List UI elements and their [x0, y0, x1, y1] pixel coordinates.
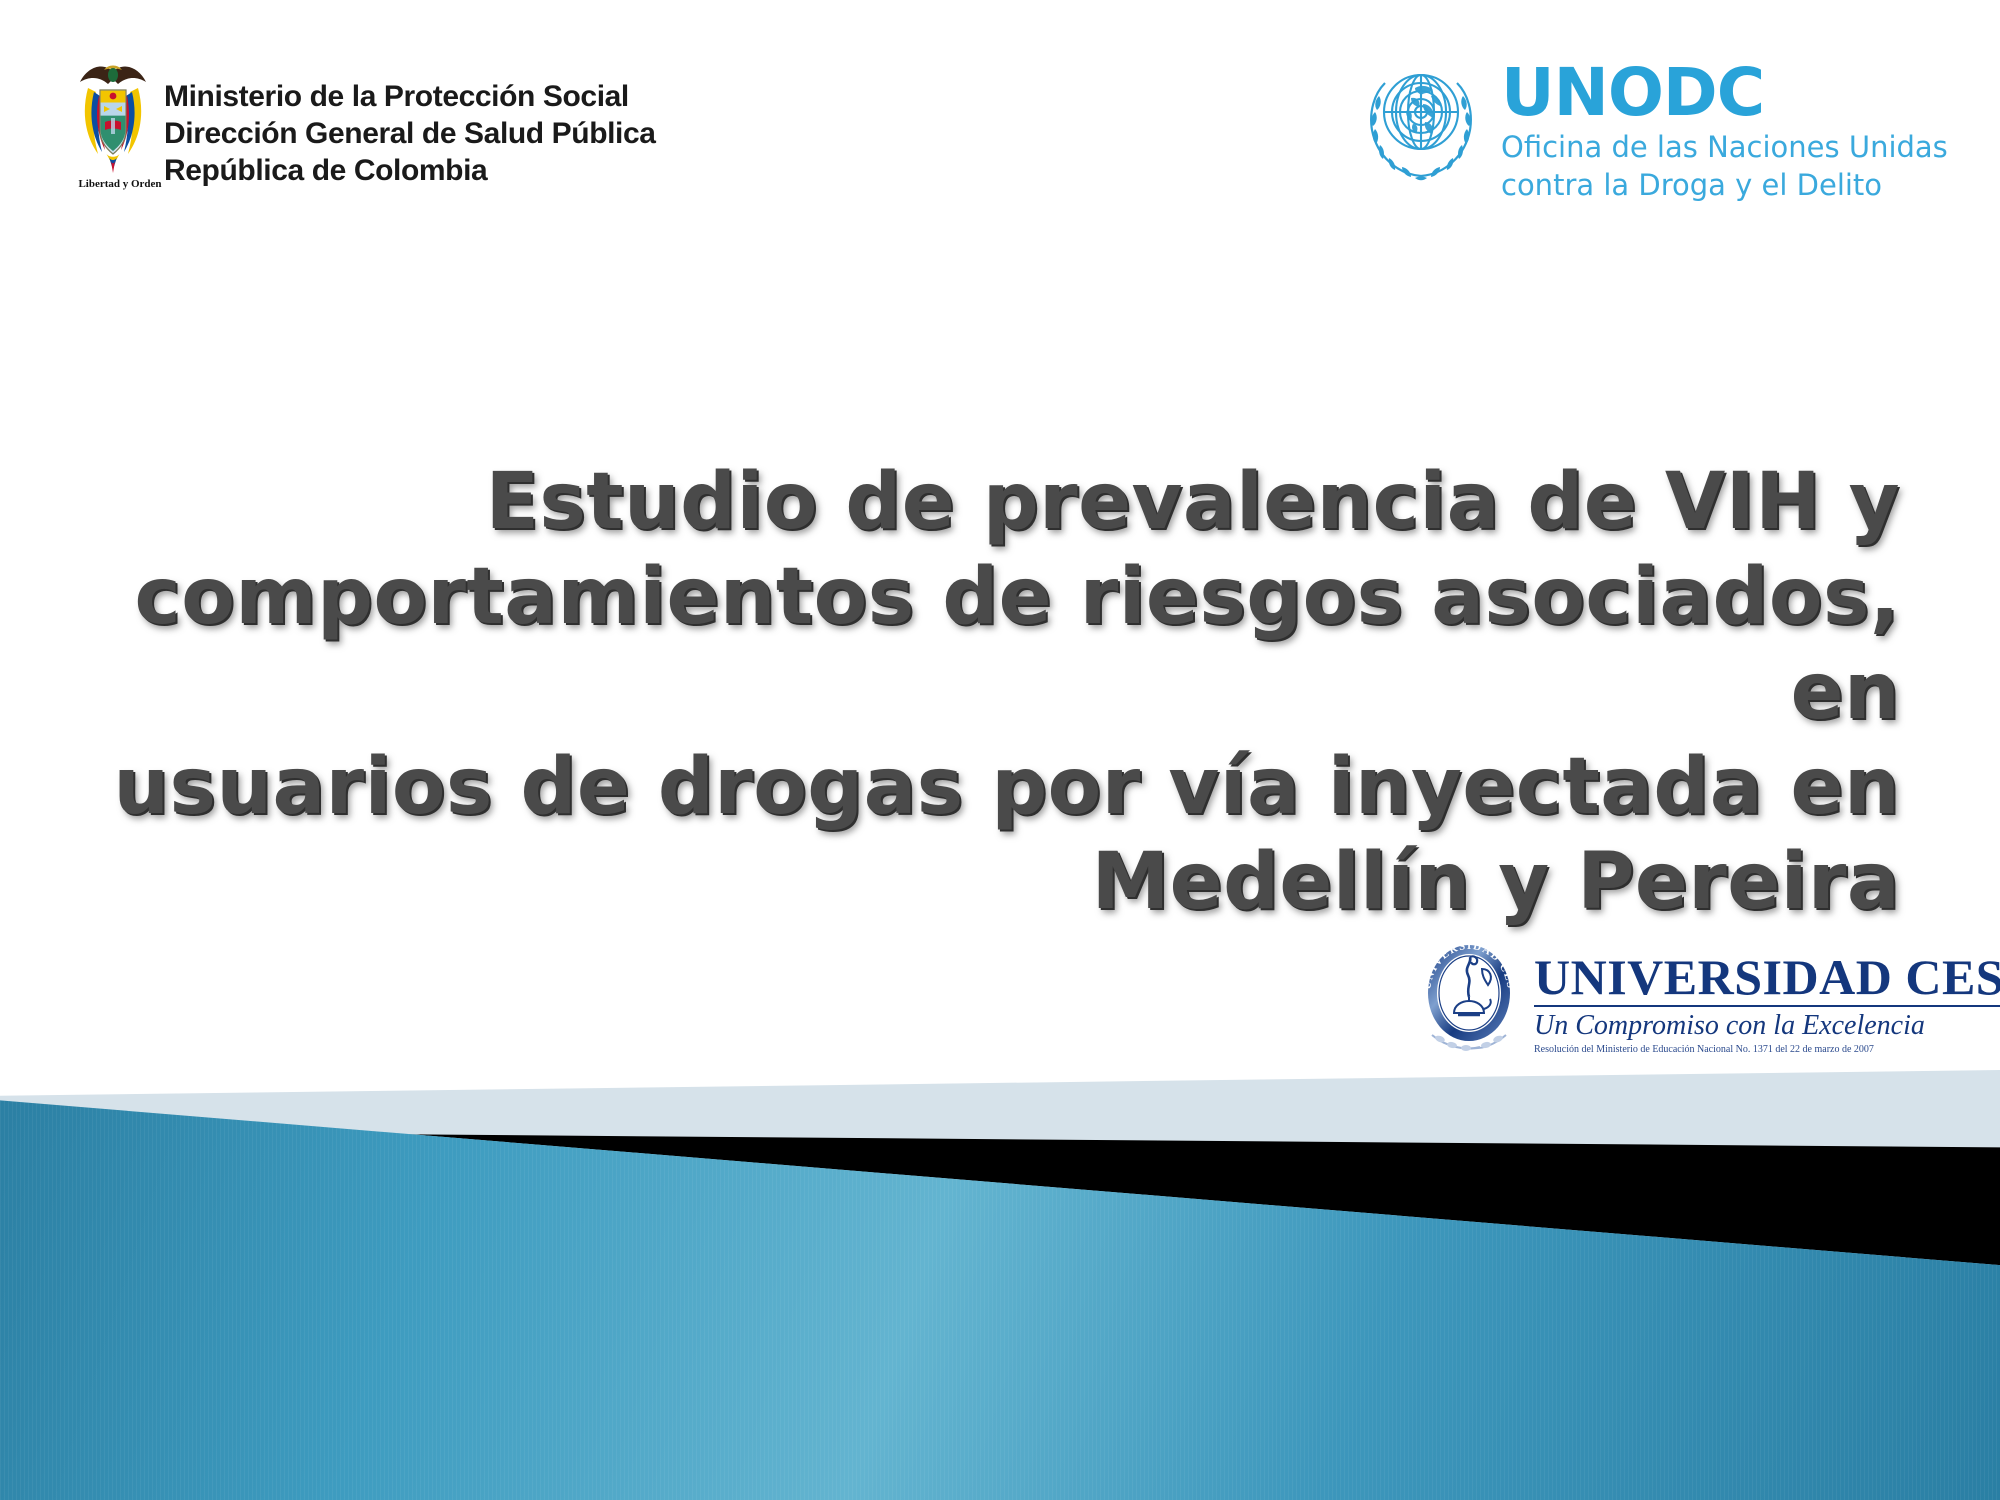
ministry-line-2: Dirección General de Salud Pública — [164, 115, 656, 152]
title-line-1: Estudio de prevalencia de VIH y — [110, 455, 1900, 550]
unodc-text-block: UNODC Oficina de las Naciones Unidas con… — [1501, 52, 1948, 202]
ministry-motto: Libertad y Orden — [76, 178, 164, 190]
ces-name: UNIVERSIDAD CES — [1534, 951, 2000, 1003]
decorative-band-pale — [0, 1070, 2000, 1500]
decorative-band-blue — [0, 1088, 2000, 1500]
title-line-3: usuarios de drogas por vía inyectada en — [110, 740, 1900, 835]
colombia-coat-of-arms-icon: Libertad y Orden — [74, 58, 152, 176]
ces-tagline: Un Compromiso con la Excelencia — [1534, 1010, 2000, 1041]
unodc-subtitle-line-1: Oficina de las Naciones Unidas — [1501, 130, 1948, 164]
title-line-4: Medellín y Pereira — [110, 835, 1900, 930]
title-slide: Libertad y Orden Ministerio de la Protec… — [0, 0, 2000, 1500]
unodc-subtitle-line-2: contra la Droga y el Delito — [1501, 168, 1948, 202]
ces-seal-icon: UNIVERSIDAD CES — [1410, 935, 1528, 1053]
ministry-logo: Libertad y Orden Ministerio de la Protec… — [74, 58, 656, 189]
decorative-band-black — [0, 1090, 2000, 1500]
page-title: Estudio de prevalencia de VIH y comporta… — [110, 455, 1900, 930]
unodc-acronym: UNODC — [1501, 60, 1948, 126]
ces-text-block: UNIVERSIDAD CES Un Compromiso con la Exc… — [1534, 935, 2000, 1056]
universidad-ces-logo: UNIVERSIDAD CES — [1410, 935, 2000, 1056]
unodc-logo: UNODC Oficina de las Naciones Unidas con… — [1355, 52, 1948, 202]
united-nations-emblem-icon — [1355, 52, 1487, 184]
title-line-2: comportamientos de riesgos asociados, en — [110, 550, 1900, 740]
ministry-text-block: Ministerio de la Protección Social Direc… — [164, 58, 656, 189]
ministry-line-3: República de Colombia — [164, 152, 656, 189]
decorative-band-highlight — [0, 1088, 2000, 1500]
ces-resolution-note: Resolución del Ministerio de Educación N… — [1534, 1043, 2000, 1056]
ces-divider — [1534, 1005, 2000, 1007]
ministry-line-1: Ministerio de la Protección Social — [164, 78, 656, 115]
